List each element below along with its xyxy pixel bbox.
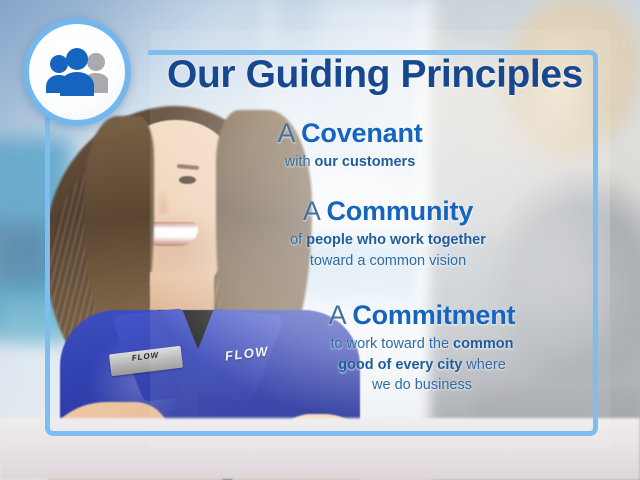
subtext-emphasis: our customers xyxy=(315,154,416,170)
principle-community-keyword: Community xyxy=(326,196,473,226)
subtext-line: with our customers xyxy=(190,152,510,173)
subtext-line: good of every city where xyxy=(252,355,592,376)
subtext-line: of people who work together xyxy=(218,230,558,251)
subtext-run: of xyxy=(290,232,306,248)
principle-covenant-article: A xyxy=(277,118,293,148)
subtext-line: we do business xyxy=(252,375,592,396)
subtext-emphasis: common xyxy=(453,336,513,352)
principle-commitment-article: A xyxy=(329,300,345,330)
principle-covenant: A Covenant with our customers xyxy=(190,118,510,173)
subtext-run: with xyxy=(285,154,315,170)
principle-commitment-lead: A Commitment xyxy=(252,300,592,330)
subtext-line: toward a common vision xyxy=(218,251,558,272)
principle-community-subtext: of people who work togethertoward a comm… xyxy=(218,230,558,271)
principle-commitment-keyword: Commitment xyxy=(352,300,515,330)
principle-covenant-subtext: with our customers xyxy=(190,152,510,173)
page-title: Our Guiding Principles xyxy=(150,54,600,95)
principle-covenant-keyword: Covenant xyxy=(301,118,422,148)
people-group-badge xyxy=(23,18,131,126)
subtext-emphasis: people who work together xyxy=(306,232,486,248)
subtext-line: to work toward the common xyxy=(252,334,592,355)
principle-community-article: A xyxy=(303,196,319,226)
promotional-graphic: FLOW FLOW Our Guiding Principles A xyxy=(0,0,640,480)
subtext-run: to work toward the xyxy=(331,336,454,352)
principle-commitment-subtext: to work toward the commongood of every c… xyxy=(252,334,592,396)
subtext-run: where xyxy=(462,357,506,373)
subtext-run: toward a common vision xyxy=(310,253,466,269)
principle-covenant-lead: A Covenant xyxy=(190,118,510,148)
principle-community: A Community of people who work togethert… xyxy=(218,196,558,271)
principle-community-lead: A Community xyxy=(218,196,558,226)
subtext-run: we do business xyxy=(372,377,472,393)
people-group-icon xyxy=(46,48,108,96)
principle-commitment: A Commitment to work toward the commongo… xyxy=(252,300,592,396)
subtext-emphasis: good of every city xyxy=(338,357,462,373)
